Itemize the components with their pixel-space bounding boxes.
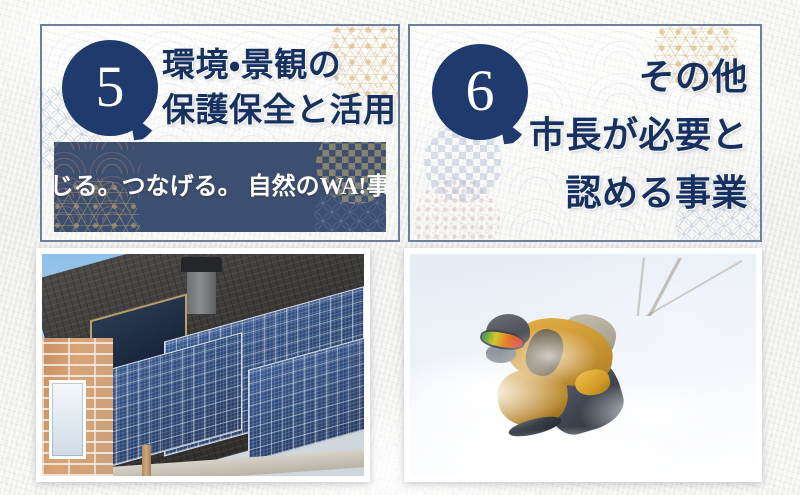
card-6: 6 その他 市長が必要と 認める事業 bbox=[408, 24, 762, 242]
card-5-headline-line-1: 環境・景観の bbox=[162, 44, 397, 89]
card-5-number: 5 bbox=[96, 58, 125, 116]
card-5-headline-line-2: 保護保全と活用 bbox=[162, 89, 397, 134]
solar-panel-roof-image bbox=[42, 254, 364, 476]
card-5-sub-banner-text: 感じる。つなげる。 自然のWA!事業 bbox=[54, 171, 386, 204]
card-6-headline-line-1: その他 bbox=[516, 48, 748, 106]
down-pipe bbox=[142, 445, 152, 476]
chimney bbox=[187, 270, 216, 314]
snowy-tree-branch bbox=[597, 258, 742, 316]
card-6-headline-line-2: 市長が必要と bbox=[516, 106, 748, 164]
card-6-headline-line-3: 認める事業 bbox=[516, 164, 748, 222]
card-5-number-bubble: 5 bbox=[62, 40, 158, 136]
card-5-headline: 環境・景観の 保護保全と活用 bbox=[162, 44, 397, 134]
snowboarder-powder-photo bbox=[404, 248, 762, 482]
brick-wall-with-window bbox=[42, 338, 113, 476]
card-5-sub-banner-line-1: 感じる。つなげる。 bbox=[54, 174, 242, 200]
solar-panel-roof-photo bbox=[36, 248, 370, 482]
card-5-sub-banner-line-2: 自然のWA!事業 bbox=[248, 174, 386, 200]
snowboarder-figure bbox=[479, 312, 638, 436]
card-6-number: 6 bbox=[466, 62, 495, 120]
card-6-number-bubble: 6 bbox=[432, 44, 528, 140]
card-5-sub-banner: 感じる。つなげる。 自然のWA!事業 bbox=[54, 142, 386, 232]
card-5: 5 環境・景観の 保護保全と活用 感じる。つなげる。 自然のWA!事業 bbox=[40, 24, 400, 242]
card-6-headline: その他 市長が必要と 認める事業 bbox=[516, 48, 748, 222]
snowboarder-powder-image bbox=[410, 254, 756, 476]
